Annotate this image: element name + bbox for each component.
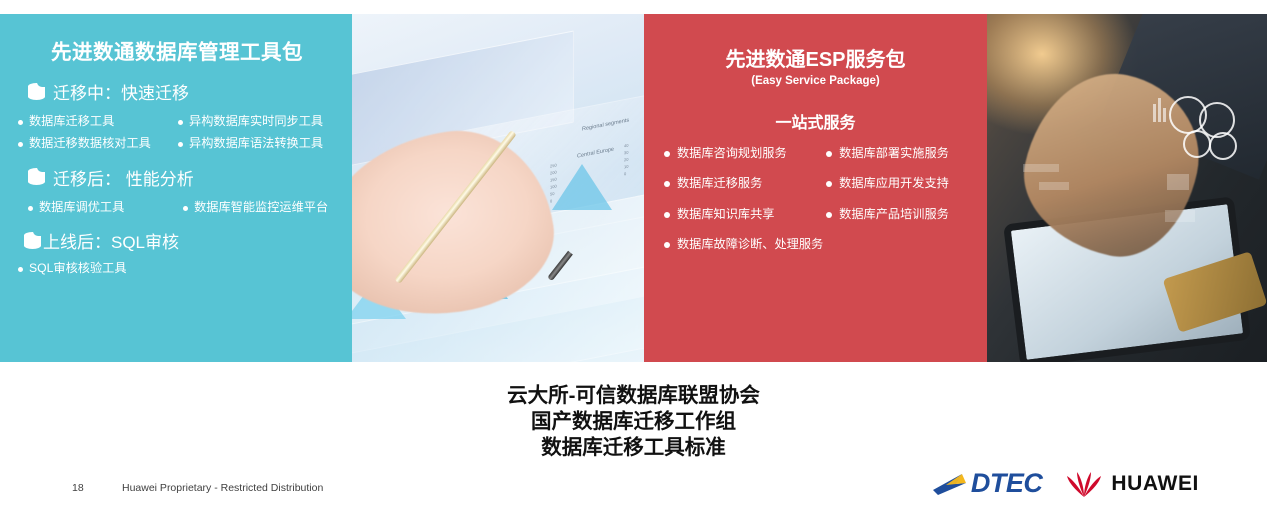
teal-section-heading-label: 上线后：SQL审核 <box>43 228 179 253</box>
teal-section-heading-label: 迁移中：快速迁移 <box>53 79 189 104</box>
dtec-logo: DTEC <box>932 468 1043 499</box>
photo-mini-bar <box>1165 210 1195 222</box>
caption-line-2: 国产数据库迁移工作组 <box>0 409 1267 435</box>
red-bullet-row: 数据库迁移服务 数据库应用开发支持 <box>654 177 977 190</box>
photo-area-peak <box>552 164 612 210</box>
teal-bullet-row: 数据迁移数据核对工具 异构数据库语法转换工具 <box>14 137 340 150</box>
photo-mini-bar <box>1039 182 1069 190</box>
bullet-dot-icon <box>18 120 23 125</box>
confidentiality-note: Huawei Proprietary - Restricted Distribu… <box>122 482 323 494</box>
list-item-label: SQL审核核验工具 <box>29 262 127 275</box>
list-item-label: 异构数据库语法转换工具 <box>189 137 323 150</box>
list-item: 异构数据库实时同步工具 <box>178 115 340 128</box>
list-item-label: 数据库故障诊断、处理服务 <box>677 238 823 251</box>
dtec-wordmark: DTEC <box>971 468 1043 499</box>
list-item-label: 数据库调优工具 <box>39 201 124 214</box>
page-number: 18 <box>72 482 84 494</box>
list-item: 数据库知识库共享 <box>654 208 826 221</box>
red-panel: 先进数通ESP服务包 (Easy Service Package) 一站式服务 … <box>644 14 987 362</box>
teal-bullet-grid-3: SQL审核核验工具 <box>14 262 340 275</box>
huawei-flower-icon <box>1066 470 1102 498</box>
list-item: 异构数据库语法转换工具 <box>178 137 340 150</box>
photo-mini-bar <box>1163 108 1166 122</box>
bullet-dot-icon <box>18 267 23 272</box>
red-bullet-row: 数据库知识库共享 数据库产品培训服务 <box>654 208 977 221</box>
list-item-label: 数据库咨询规划服务 <box>677 147 787 160</box>
bullet-dot-icon <box>18 142 23 147</box>
logo-bar: DTEC HUAWEI <box>932 468 1199 499</box>
teal-section-heading-migration: 迁移中：快速迁移 <box>28 79 340 104</box>
teal-section-heading-performance: 迁移后： 性能分析 <box>28 165 340 190</box>
database-icon <box>24 231 41 251</box>
red-bullet-row: 数据库咨询规划服务 数据库部署实施服务 <box>654 147 977 160</box>
photo-mini-bar <box>1167 174 1189 190</box>
list-item-label: 数据库产品培训服务 <box>839 208 949 221</box>
list-item: 数据库部署实施服务 <box>826 147 977 160</box>
red-panel-section-heading: 一站式服务 <box>654 109 977 133</box>
list-item: 数据库故障诊断、处理服务 <box>654 238 977 251</box>
list-item: SQL审核核验工具 <box>14 262 186 275</box>
huawei-wordmark: HUAWEI <box>1111 472 1199 496</box>
caption-line-3: 数据库迁移工具标准 <box>0 435 1267 461</box>
bullet-dot-icon <box>178 120 183 125</box>
list-item-label: 数据库部署实施服务 <box>839 147 949 160</box>
photo-axis-ticks: 250200150100500 <box>550 161 557 204</box>
teal-section-heading-label: 迁移后： 性能分析 <box>53 165 194 190</box>
dtec-mark-icon <box>932 471 974 497</box>
list-item: 数据库调优工具 <box>14 201 183 214</box>
bullet-dot-icon <box>664 212 670 218</box>
caption-block: 云大所-可信数据库联盟协会 国产数据库迁移工作组 数据库迁移工具标准 <box>0 383 1267 461</box>
list-item-label: 数据迁移数据核对工具 <box>29 137 151 150</box>
bullet-dot-icon <box>178 142 183 147</box>
list-item-label: 数据库知识库共享 <box>677 208 775 221</box>
list-item-label: 异构数据库实时同步工具 <box>189 115 323 128</box>
list-item: 数据库智能监控运维平台 <box>183 201 340 214</box>
bullet-dot-icon <box>826 181 832 187</box>
red-bullet-row: 数据库故障诊断、处理服务 <box>654 238 977 251</box>
list-item: 数据迁移数据核对工具 <box>14 137 178 150</box>
bullet-dot-icon <box>664 242 670 248</box>
photo-mini-bar <box>1158 98 1161 122</box>
teal-panel: 先进数通数据库管理工具包 迁移中：快速迁移 数据库迁移工具 异构数据库实时同步工… <box>0 14 352 362</box>
teal-bullet-row: 数据库迁移工具 异构数据库实时同步工具 <box>14 115 340 128</box>
bullet-dot-icon <box>826 151 832 157</box>
list-item: 数据库迁移工具 <box>14 115 178 128</box>
list-item-label: 数据库应用开发支持 <box>839 177 949 190</box>
huawei-logo: HUAWEI <box>1066 470 1199 498</box>
database-icon <box>28 167 45 187</box>
teal-bullet-grid-1: 数据库迁移工具 异构数据库实时同步工具 数据迁移数据核对工具 异构数据库语法转换… <box>14 115 340 151</box>
bullet-dot-icon <box>664 151 670 157</box>
right-photo <box>987 14 1267 362</box>
banner-strip: 先进数通数据库管理工具包 迁移中：快速迁移 数据库迁移工具 异构数据库实时同步工… <box>0 14 1267 362</box>
list-item: 数据库咨询规划服务 <box>654 147 826 160</box>
teal-bullet-row: SQL审核核验工具 <box>14 262 340 275</box>
photo-ring-icon <box>1183 130 1211 158</box>
photo-ring-icon <box>1209 132 1237 160</box>
photo-mini-bar <box>1153 104 1156 122</box>
list-item: 数据库应用开发支持 <box>826 177 977 190</box>
teal-bullet-row: 数据库调优工具 数据库智能监控运维平台 <box>14 201 340 214</box>
red-panel-subtitle: (Easy Service Package) <box>654 75 977 87</box>
red-bullet-grid: 数据库咨询规划服务 数据库部署实施服务 数据库迁移服务 数据库应用开发支持 <box>654 147 977 252</box>
bullet-dot-icon <box>183 206 188 211</box>
teal-section-heading-sql: 上线后：SQL审核 <box>24 228 340 253</box>
middle-photo: Regional segments Central Europe East Eu… <box>352 14 644 362</box>
list-item-label: 数据库智能监控运维平台 <box>194 201 328 214</box>
teal-bullet-grid-2: 数据库调优工具 数据库智能监控运维平台 <box>14 201 340 214</box>
photo-axis-ticks: 403020100 <box>624 142 628 178</box>
caption-line-1: 云大所-可信数据库联盟协会 <box>0 383 1267 409</box>
list-item: 数据库迁移服务 <box>654 177 826 190</box>
list-item-label: 数据库迁移服务 <box>677 177 762 190</box>
bullet-dot-icon <box>826 212 832 218</box>
teal-panel-title: 先进数通数据库管理工具包 <box>14 35 340 65</box>
photo-mini-bar <box>1023 164 1059 172</box>
list-item-label: 数据库迁移工具 <box>29 115 114 128</box>
list-item: 数据库产品培训服务 <box>826 208 977 221</box>
database-icon <box>28 82 45 102</box>
bullet-dot-icon <box>28 206 33 211</box>
red-panel-title: 先进数通ESP服务包 <box>654 43 977 72</box>
bullet-dot-icon <box>664 181 670 187</box>
